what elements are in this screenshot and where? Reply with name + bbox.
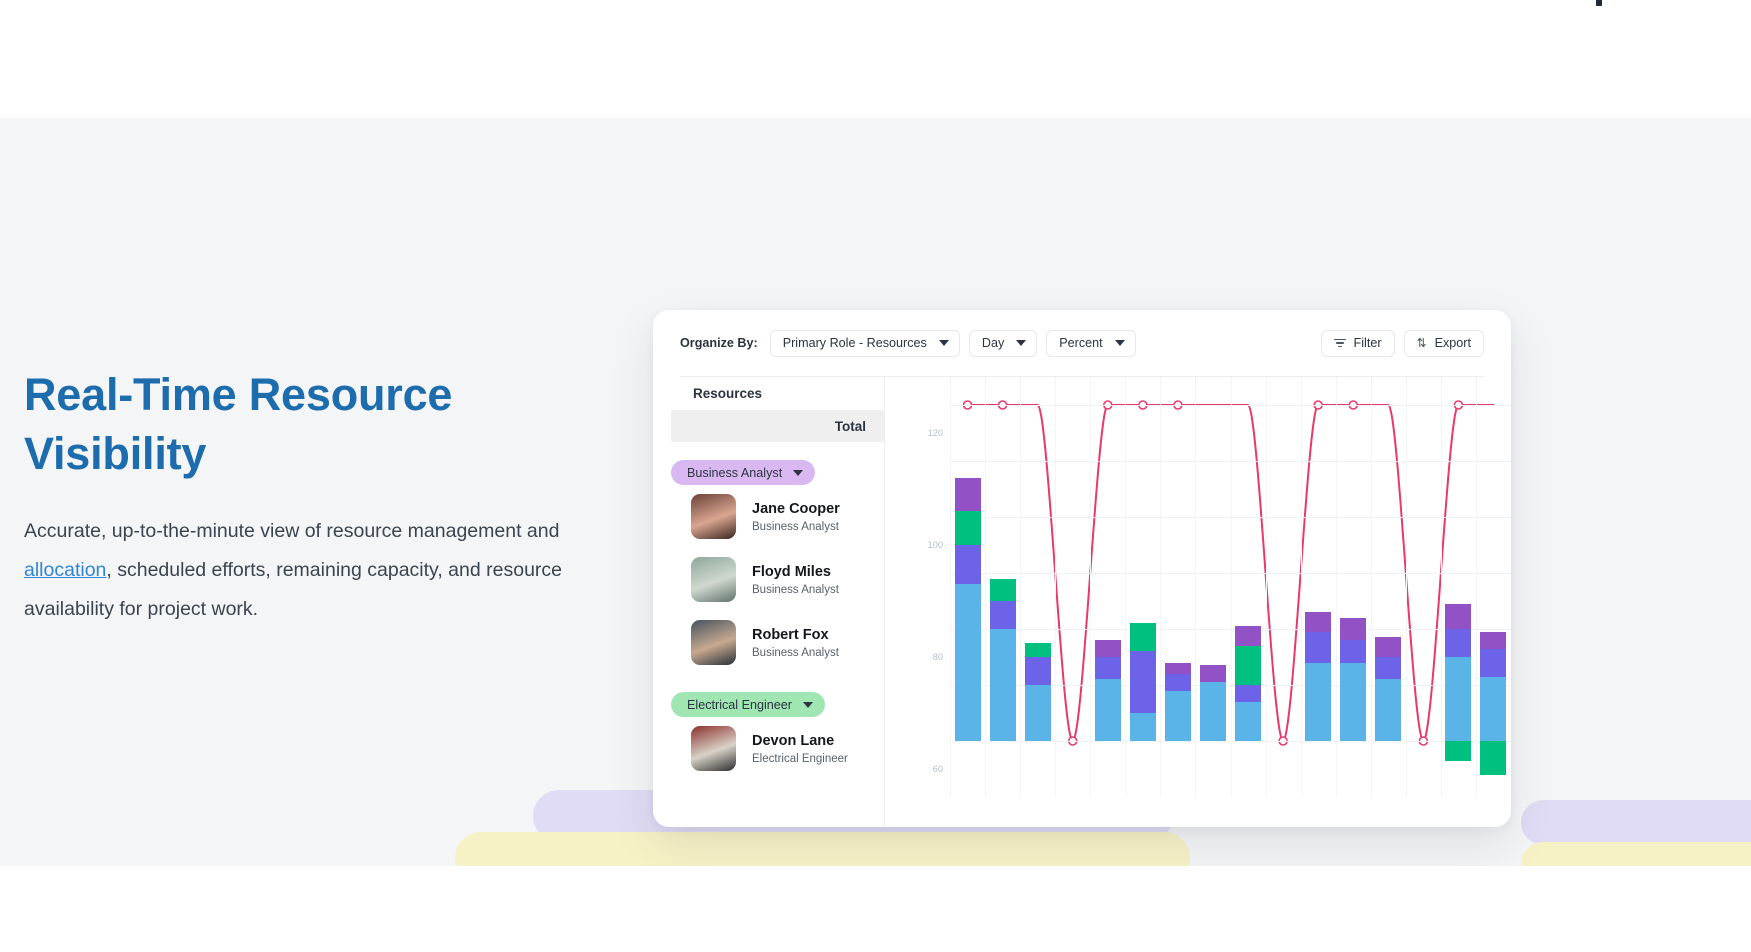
- chart-bar[interactable]: [990, 377, 1016, 797]
- chart-bar-segment-purple: [1340, 618, 1366, 640]
- hero-copy: Real-Time Resource Visibility Accurate, …: [24, 365, 644, 629]
- allocation-link[interactable]: allocation: [24, 559, 106, 581]
- chart-plot-area: 020406080100120: [950, 377, 1511, 797]
- person-name: Robert Fox: [752, 626, 839, 644]
- export-button-label: Export: [1435, 336, 1471, 350]
- gridline-vertical: [1266, 377, 1267, 797]
- person-info: Floyd MilesBusiness Analyst: [752, 563, 839, 595]
- gridline-vertical: [1090, 377, 1091, 797]
- chart-bar[interactable]: [1200, 377, 1226, 797]
- chart-bar-segment-purple: [1480, 632, 1506, 649]
- chart-bar-segment-purple: [955, 478, 981, 512]
- chart-bar-segment-indigo: [1130, 651, 1156, 713]
- toolbar-actions: Filter ⇅ Export: [1321, 330, 1484, 357]
- gridline-vertical: [1476, 377, 1477, 797]
- list-item[interactable]: Devon LaneElectrical Engineer: [671, 717, 884, 780]
- chart-bar-segment-purple: [1095, 640, 1121, 657]
- chart-bar-segment-green: [1445, 741, 1471, 761]
- y-axis-tick-label: 100: [928, 540, 943, 550]
- total-column-header: Total: [671, 410, 884, 442]
- gridline-vertical: [1231, 377, 1232, 797]
- chart-bar-segment-indigo: [990, 601, 1016, 629]
- chart-bar-segment-sky: [1445, 657, 1471, 741]
- feature-section: Real-Time Resource Visibility Accurate, …: [0, 118, 1751, 866]
- gridline-vertical: [1160, 377, 1161, 797]
- group-chip-label: Electrical Engineer: [687, 698, 792, 712]
- person-name: Devon Lane: [752, 732, 848, 750]
- chart-bar-segment-sky: [1375, 679, 1401, 741]
- resources-header: Resources: [671, 377, 884, 410]
- chart-bar[interactable]: [955, 377, 981, 797]
- chart-bar[interactable]: [1095, 377, 1121, 797]
- chart-bar-segment-green: [1480, 741, 1506, 775]
- chevron-down-icon: [939, 340, 949, 346]
- person-name: Jane Cooper: [752, 500, 840, 518]
- chart-bar-segment-indigo: [1305, 632, 1331, 663]
- chart-bar-segment-indigo: [1340, 640, 1366, 662]
- avatar: [691, 620, 736, 665]
- chart-bar-segment-indigo: [1025, 657, 1051, 685]
- person-info: Jane CooperBusiness Analyst: [752, 500, 840, 532]
- decorative-edge-lavender: [1521, 800, 1751, 845]
- page-bottom-band: [0, 866, 1751, 952]
- chart-bar[interactable]: [1480, 377, 1506, 797]
- chart-bar-segment-green: [1025, 643, 1051, 657]
- decorative-edge-yellow: [1521, 842, 1751, 866]
- chart-bar[interactable]: [1165, 377, 1191, 797]
- avatar: [691, 557, 736, 602]
- chart-bar[interactable]: [1340, 377, 1366, 797]
- chart-bar-segment-purple: [1165, 663, 1191, 674]
- resource-group: Business AnalystJane CooperBusiness Anal…: [671, 442, 884, 674]
- chart-bar-segment-indigo: [955, 545, 981, 584]
- utilization-chart: 020406080100120: [884, 377, 1511, 827]
- chart-bar[interactable]: [1445, 377, 1471, 797]
- chevron-down-icon: [793, 470, 803, 476]
- chart-bar-segment-indigo: [1480, 649, 1506, 677]
- chart-bar-segment-green: [1235, 646, 1261, 685]
- group-chip-electrical-engineer[interactable]: Electrical Engineer: [671, 692, 825, 717]
- gridline-vertical: [1336, 377, 1337, 797]
- app-card: Organize By: Primary Role - Resources Da…: [653, 310, 1511, 827]
- role-select[interactable]: Primary Role - Resources: [770, 330, 960, 357]
- filter-icon: [1334, 339, 1346, 348]
- person-info: Devon LaneElectrical Engineer: [752, 732, 848, 764]
- organize-by-label: Organize By:: [680, 336, 758, 350]
- person-role: Electrical Engineer: [752, 753, 848, 765]
- gridline-vertical: [950, 377, 951, 797]
- hero-description: Accurate, up-to-the-minute view of resou…: [24, 512, 644, 629]
- filter-button[interactable]: Filter: [1321, 330, 1395, 357]
- gridline-vertical: [1020, 377, 1021, 797]
- group-chip-business-analyst[interactable]: Business Analyst: [671, 460, 815, 485]
- person-role: Business Analyst: [752, 521, 840, 533]
- chart-bar[interactable]: [1410, 377, 1436, 797]
- gridline-vertical: [1441, 377, 1442, 797]
- chart-bar-segment-purple: [1200, 665, 1226, 682]
- page-top-band: [0, 0, 1751, 118]
- chart-bar[interactable]: [1305, 377, 1331, 797]
- chart-bar-segment-sky: [1130, 713, 1156, 741]
- chart-bar-segment-sky: [1165, 691, 1191, 741]
- gridline-vertical: [1301, 377, 1302, 797]
- cut-off-element: [1596, 0, 1602, 6]
- person-role: Business Analyst: [752, 584, 839, 596]
- group-chip-label: Business Analyst: [687, 466, 782, 480]
- export-button[interactable]: ⇅ Export: [1404, 330, 1484, 357]
- chart-bar-segment-sky: [1200, 682, 1226, 741]
- chart-bar-segment-sky: [1095, 679, 1121, 741]
- resources-sidebar: Resources Total Business AnalystJane Coo…: [671, 377, 884, 827]
- chart-bar-segment-indigo: [1445, 629, 1471, 657]
- chevron-down-icon: [803, 702, 813, 708]
- chart-bar-segment-sky: [955, 584, 981, 741]
- chart-bar-segment-indigo: [1375, 657, 1401, 679]
- gridline-vertical: [1406, 377, 1407, 797]
- chart-bar-segment-sky: [1235, 702, 1261, 741]
- chart-bar[interactable]: [1060, 377, 1086, 797]
- chart-bar-segment-green: [955, 511, 981, 545]
- app-toolbar: Organize By: Primary Role - Resources Da…: [653, 310, 1511, 376]
- decorative-pill-yellow: [455, 832, 1190, 866]
- y-axis-tick-label: 60: [933, 764, 943, 774]
- y-axis-tick-label: 80: [933, 652, 943, 662]
- y-axis-tick-label: 120: [928, 428, 943, 438]
- chart-bar-segment-green: [990, 579, 1016, 601]
- filter-button-label: Filter: [1354, 336, 1382, 350]
- chart-bar-segment-indigo: [1235, 685, 1261, 702]
- chart-bar-segment-sky: [990, 629, 1016, 741]
- chart-bar[interactable]: [1130, 377, 1156, 797]
- chart-bar-segment-purple: [1375, 637, 1401, 657]
- chart-bar-segment-purple: [1305, 612, 1331, 632]
- chart-bar[interactable]: [1375, 377, 1401, 797]
- avatar: [691, 494, 736, 539]
- list-item[interactable]: Robert FoxBusiness Analyst: [671, 611, 884, 674]
- chart-bar-segment-sky: [1305, 663, 1331, 741]
- chart-bar-segment-purple: [1445, 604, 1471, 629]
- person-role: Business Analyst: [752, 647, 839, 659]
- gridline-vertical: [1125, 377, 1126, 797]
- gridline-vertical: [1195, 377, 1196, 797]
- chart-bar-segment-sky: [1340, 663, 1366, 741]
- chevron-down-icon: [1016, 340, 1026, 346]
- avatar: [691, 726, 736, 771]
- chart-bar[interactable]: [1235, 377, 1261, 797]
- role-select-value: Primary Role - Resources: [783, 336, 927, 350]
- chevron-down-icon: [1115, 340, 1125, 346]
- unit-select[interactable]: Percent: [1046, 330, 1135, 357]
- resource-group: Electrical EngineerDevon LaneElectrical …: [671, 674, 884, 780]
- period-select[interactable]: Day: [969, 330, 1037, 357]
- resource-groups: Business AnalystJane CooperBusiness Anal…: [671, 442, 884, 780]
- list-item[interactable]: Jane CooperBusiness Analyst: [671, 485, 884, 548]
- chart-bar-segment-indigo: [1165, 674, 1191, 691]
- chart-bar-segment-sky: [1025, 685, 1051, 741]
- chart-bar[interactable]: [1025, 377, 1051, 797]
- person-name: Floyd Miles: [752, 563, 839, 581]
- hero-description-part1: Accurate, up-to-the-minute view of resou…: [24, 520, 559, 542]
- unit-select-value: Percent: [1059, 336, 1102, 350]
- export-icon: ⇅: [1417, 337, 1427, 349]
- chart-bar-segment-sky: [1480, 677, 1506, 741]
- person-info: Robert FoxBusiness Analyst: [752, 626, 839, 658]
- gridline-vertical: [1055, 377, 1056, 797]
- chart-bar-segment-green: [1130, 623, 1156, 651]
- list-item[interactable]: Floyd MilesBusiness Analyst: [671, 548, 884, 611]
- period-select-value: Day: [982, 336, 1004, 350]
- gridline-vertical: [985, 377, 986, 797]
- gridline-vertical: [1371, 377, 1372, 797]
- page-title: Real-Time Resource Visibility: [24, 365, 644, 484]
- chart-bar-segment-purple: [1235, 626, 1261, 646]
- chart-bar[interactable]: [1270, 377, 1296, 797]
- chart-bar-segment-indigo: [1095, 657, 1121, 679]
